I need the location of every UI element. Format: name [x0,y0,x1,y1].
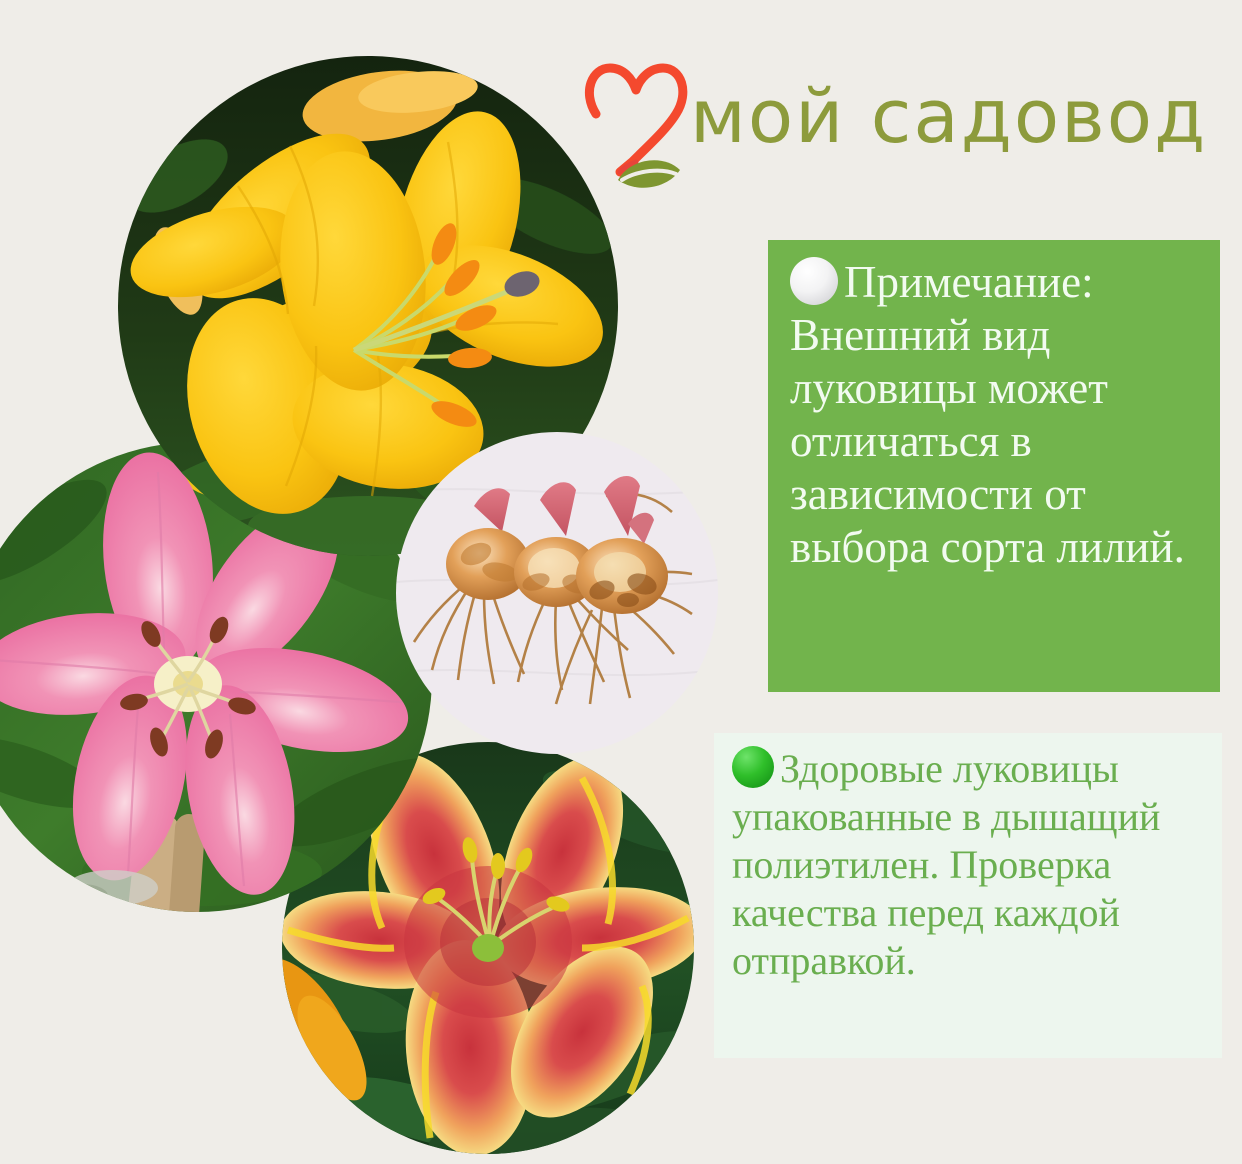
poster-canvas: мой садовод [0,0,1242,1164]
healthy-bulbs-panel: Здоровые луковицы упакованные в дышащий … [714,733,1222,1058]
note-heading: Примечание: [844,257,1094,307]
heart-outline-icon [589,68,682,172]
logo-mark [578,58,696,198]
photo-lily-bulbs [396,432,718,754]
note-body-text: Внешний вид луковицы может отличаться в … [790,310,1185,572]
logo-wordmark: мой садовод [690,80,1207,154]
green-circle-bullet-icon [732,746,774,788]
healthy-body-text: Здоровые луковицы упакованные в дышащий … [732,746,1160,983]
brand-logo[interactable]: мой садовод [578,58,1228,208]
lily-bulbs-image [396,432,718,754]
heart-leaf-icon [578,58,696,198]
white-circle-bullet-icon [790,257,838,305]
note-panel: Примечание: Внешний вид луковицы может о… [768,240,1220,692]
